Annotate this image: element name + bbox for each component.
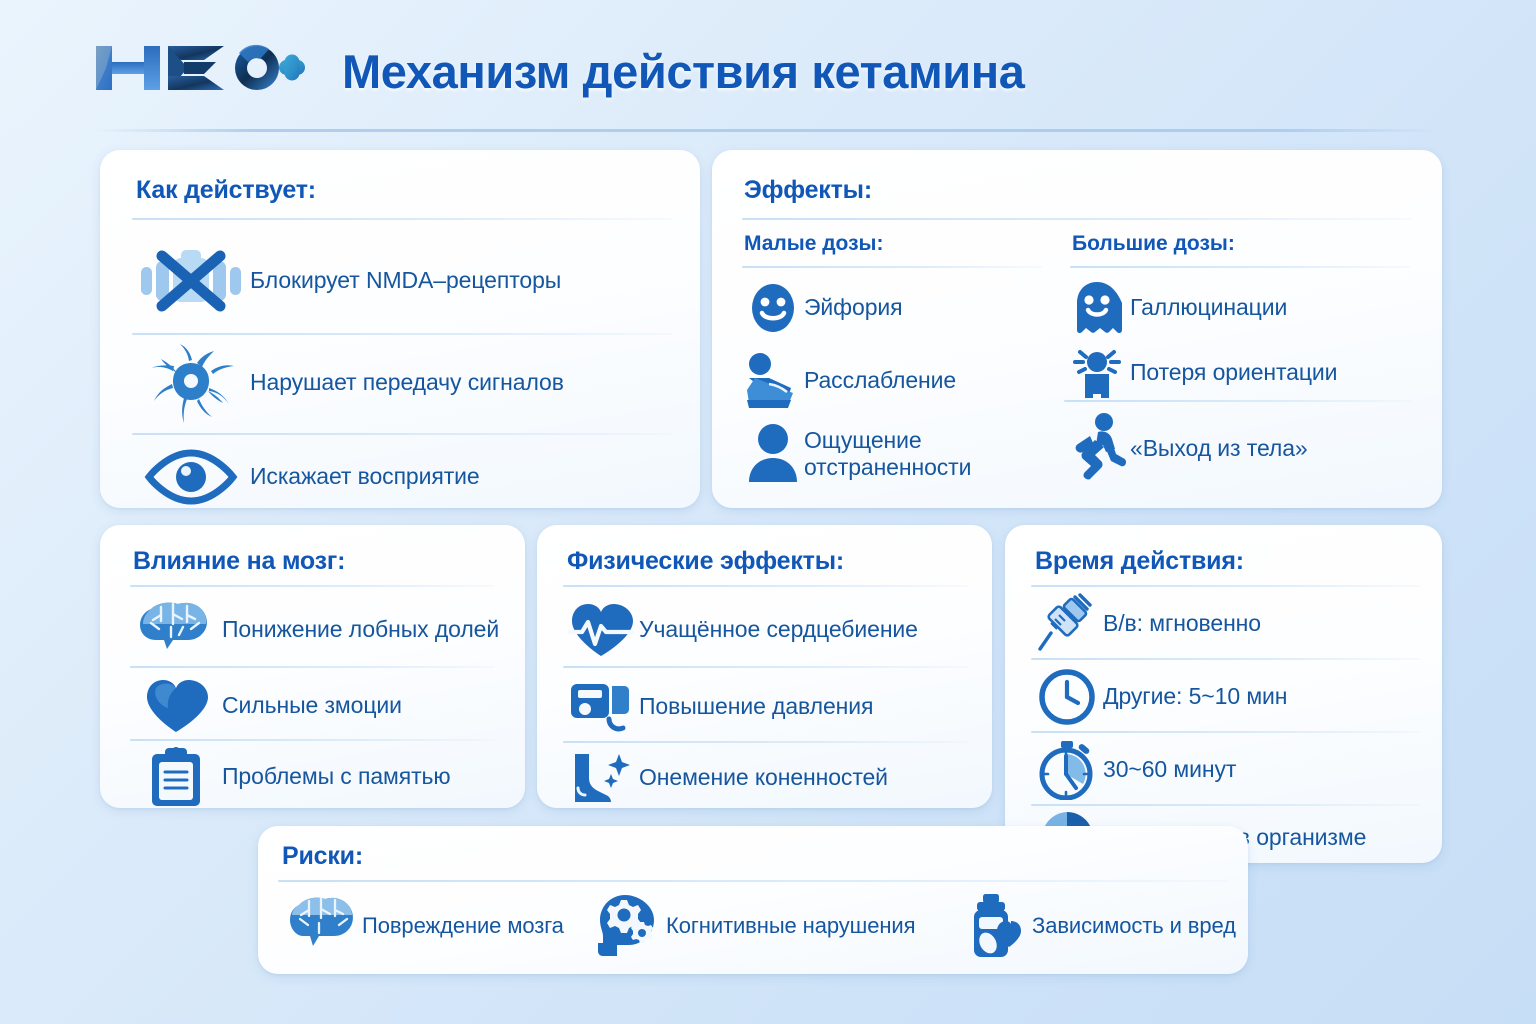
syringe-icon [1031,593,1103,655]
card-time-title: Время действия: [1035,547,1244,576]
receptor-blocked-icon [132,246,250,316]
card-how-it-works: Как действует: Блоки [100,150,700,508]
ghost-icon [1064,280,1130,336]
list-item[interactable]: Сильные змоции [130,675,510,737]
boot-tingling-icon [563,750,639,806]
list-item[interactable]: Повреждение мозга [280,888,580,964]
row-divider [1031,658,1421,660]
list-item-label: В/в: мгновенно [1103,610,1261,637]
effects-column-high-divider [1070,266,1410,268]
row-divider [132,333,672,335]
row-divider [563,741,968,743]
row-divider [132,433,672,435]
list-item[interactable]: В/в: мгновенно [1031,593,1431,655]
list-item-label: Нарушает передачу сигналов [250,369,564,396]
row-divider [1031,731,1421,733]
card-brain-divider [130,585,495,587]
clipboard-icon [130,746,222,808]
list-item-label: Эйфория [804,294,903,321]
blood-pressure-monitor-icon [563,678,639,736]
card-risks-title: Риски: [282,842,363,871]
card-effects-title: Эффекты: [744,176,872,205]
head-gears-icon [588,893,666,959]
list-item[interactable]: «Выход из тела» [1064,408,1414,490]
person-silhouette-icon [742,422,804,486]
list-item[interactable]: Нарушает передачу сигналов [132,342,677,424]
heart-pulse-icon [563,602,639,658]
list-item-label: Понижение лобных долей [222,616,499,643]
list-item-label: Сильные змоции [222,692,402,719]
list-item-label: Повышение давления [639,693,873,720]
list-item-label: Проблемы с памятью [222,763,451,790]
reclining-person-icon [742,350,804,412]
header-divider [95,129,1443,132]
list-item[interactable]: Эйфория [742,278,1052,338]
eye-icon [132,449,250,505]
list-item-label: Ощущение отстраненности [804,427,990,480]
page-header: Механизм действия кетамина [0,0,1536,130]
card-how-title: Как действует: [136,176,316,205]
row-divider [130,739,495,741]
list-item-label: Потеря ориентации [1130,359,1337,386]
list-item[interactable]: Галлюцинации [1064,278,1414,338]
list-item-label: Когнитивные нарушения [666,913,915,939]
list-item[interactable]: Блокирует NMDA–рецепторы [132,240,677,322]
list-item-label: Повреждение мозга [362,913,564,939]
card-effects: Эффекты: Малые дозы: Эйфория Расслаблени [712,150,1442,508]
list-item-label: «Выход из тела» [1130,435,1308,462]
list-item[interactable]: Расслабление [742,348,1052,414]
list-item-label: Другие: 5~10 мин [1103,683,1287,710]
page-title: Механизм действия кетамина [342,44,1025,99]
list-item[interactable]: Учащённое сердцебиение [563,597,983,663]
list-item[interactable]: Понижение лобных долей [130,597,510,663]
running-person-icon [1064,412,1130,486]
effects-column-low-divider [742,266,1042,268]
list-item[interactable]: Проблемы с памятью [130,747,510,807]
row-divider [563,666,968,668]
list-item[interactable]: Повышение давления [563,675,983,739]
list-item-label: 30~60 минут [1103,756,1236,783]
list-item[interactable]: Искажает восприятие [132,442,677,512]
card-physical-title: Физические эффекты: [567,547,844,576]
stopwatch-icon [1031,740,1103,800]
card-risks-divider [278,880,1228,882]
list-item[interactable]: Потеря ориентации [1064,343,1414,403]
neuron-icon [132,343,250,423]
card-physical-effects: Физические эффекты: Учащённое сердцебиен… [537,525,992,808]
list-item-label: Галлюцинации [1130,294,1287,321]
list-item[interactable]: Другие: 5~10 мин [1031,666,1431,728]
neo-plus-logo [92,38,307,100]
list-item[interactable]: Онемение коненностей [563,749,983,807]
card-brain-impact: Влияние на мозг: Понижение лобных долей … [100,525,525,808]
list-item-label: Искажает восприятие [250,463,480,490]
list-item[interactable]: Когнитивные нарушения [588,888,928,964]
card-time-divider [1031,585,1421,587]
heart-icon [130,678,222,734]
dizzy-person-icon [1064,344,1130,402]
row-divider [130,666,495,668]
list-item-label: Зависимость и вред [1032,913,1236,939]
card-duration: Время действия: В/в: мгновенно [1005,525,1442,863]
effects-column-low-title: Малые дозы: [744,232,883,256]
list-item[interactable]: 30~60 минут [1031,739,1431,801]
effects-column-high-title: Большие дозы: [1072,232,1235,256]
list-item-label: Учащённое сердцебиение [639,616,918,643]
card-physical-divider [563,585,968,587]
card-effects-divider [742,218,1412,220]
list-item-label: Расслабление [804,367,956,394]
pill-bottle-icon [958,893,1032,959]
list-item-label: Блокирует NMDA–рецепторы [250,267,561,294]
brain-damage-icon [280,895,362,957]
list-item[interactable]: Зависимость и вред [958,888,1258,964]
list-item[interactable]: Ощущение отстраненности [742,418,1052,490]
list-item-label: Онемение коненностей [639,764,888,791]
row-divider [1031,804,1421,806]
card-brain-title: Влияние на мозг: [133,547,345,576]
card-risks: Риски: Повреждение мозга [258,826,1248,974]
row-divider [1064,400,1412,402]
brain-icon [130,601,222,659]
clock-icon [1031,669,1103,725]
card-how-divider [132,218,672,220]
smiley-face-icon [742,282,804,334]
